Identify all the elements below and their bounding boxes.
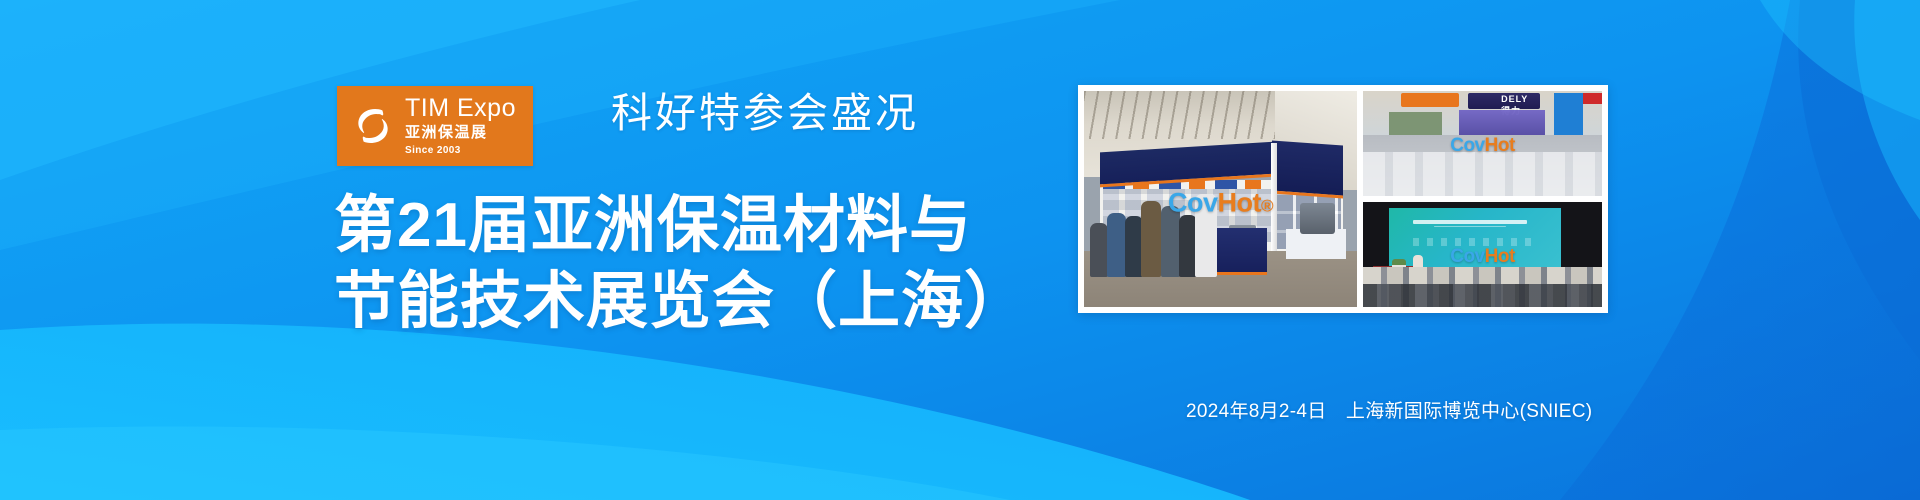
photo-collage: CovHot® DELY 得力 CovHot [1078,85,1608,313]
booth-corner-pillar [1271,143,1277,264]
page-title: 第21届亚洲保温材料与 节能技术展览会（上海） [334,188,1034,339]
logo-text-block: TIM Expo 亚洲保温展 Since 2003 [405,96,516,156]
aisle-green-booth [1389,112,1442,137]
booth-visitors [1087,190,1229,276]
tim-expo-logo: TIM Expo 亚洲保温展 Since 2003 [337,86,533,166]
aisle-purple-booth [1459,110,1545,137]
logo-english-name: TIM Expo [405,96,516,121]
aisle-chairs-and-people [1363,152,1602,196]
booth-table-right [1286,229,1346,259]
photo-booth: CovHot® [1084,91,1357,307]
logo-chinese-name: 亚洲保温展 [405,125,516,140]
event-date-venue: 2024年8月2-4日 上海新国际博览中心(SNIEC) [1186,396,1592,423]
banner-content-column: TIM Expo 亚洲保温展 Since 2003 科好特参会盛况 第21届亚洲… [0,0,1060,500]
headline-line-1: 第21届亚洲保温材料与 [334,188,1034,264]
aisle-orange-sign [1401,93,1458,107]
forum-screen-skyline-graphic [1413,238,1537,246]
collage-right-column: DELY 得力 CovHot [1363,91,1602,307]
forum-screen-title-bar [1413,220,1527,224]
logo-since-label: Since 2003 [405,146,516,156]
photo-aisle-crowd: DELY 得力 CovHot [1363,91,1602,196]
booth-machine-right [1300,203,1335,233]
forum-screen-subtitle-bar [1434,226,1506,228]
aisle-dely-sign: DELY 得力 [1468,93,1540,109]
aisle-red-sign [1583,93,1602,104]
exhibition-promo-banner: TIM Expo 亚洲保温展 Since 2003 科好特参会盛况 第21届亚洲… [0,0,1920,500]
tim-expo-swirl-mark-icon [348,98,398,154]
forum-audience-front-row [1363,284,1602,307]
kicker-text: 科好特参会盛况 [611,79,919,139]
booth-side-banner [1272,140,1343,198]
headline-line-2: 节能技术展览会（上海） [334,264,1034,340]
photo-forum: CovHot [1363,202,1602,307]
aisle-blue-banner [1554,93,1583,140]
